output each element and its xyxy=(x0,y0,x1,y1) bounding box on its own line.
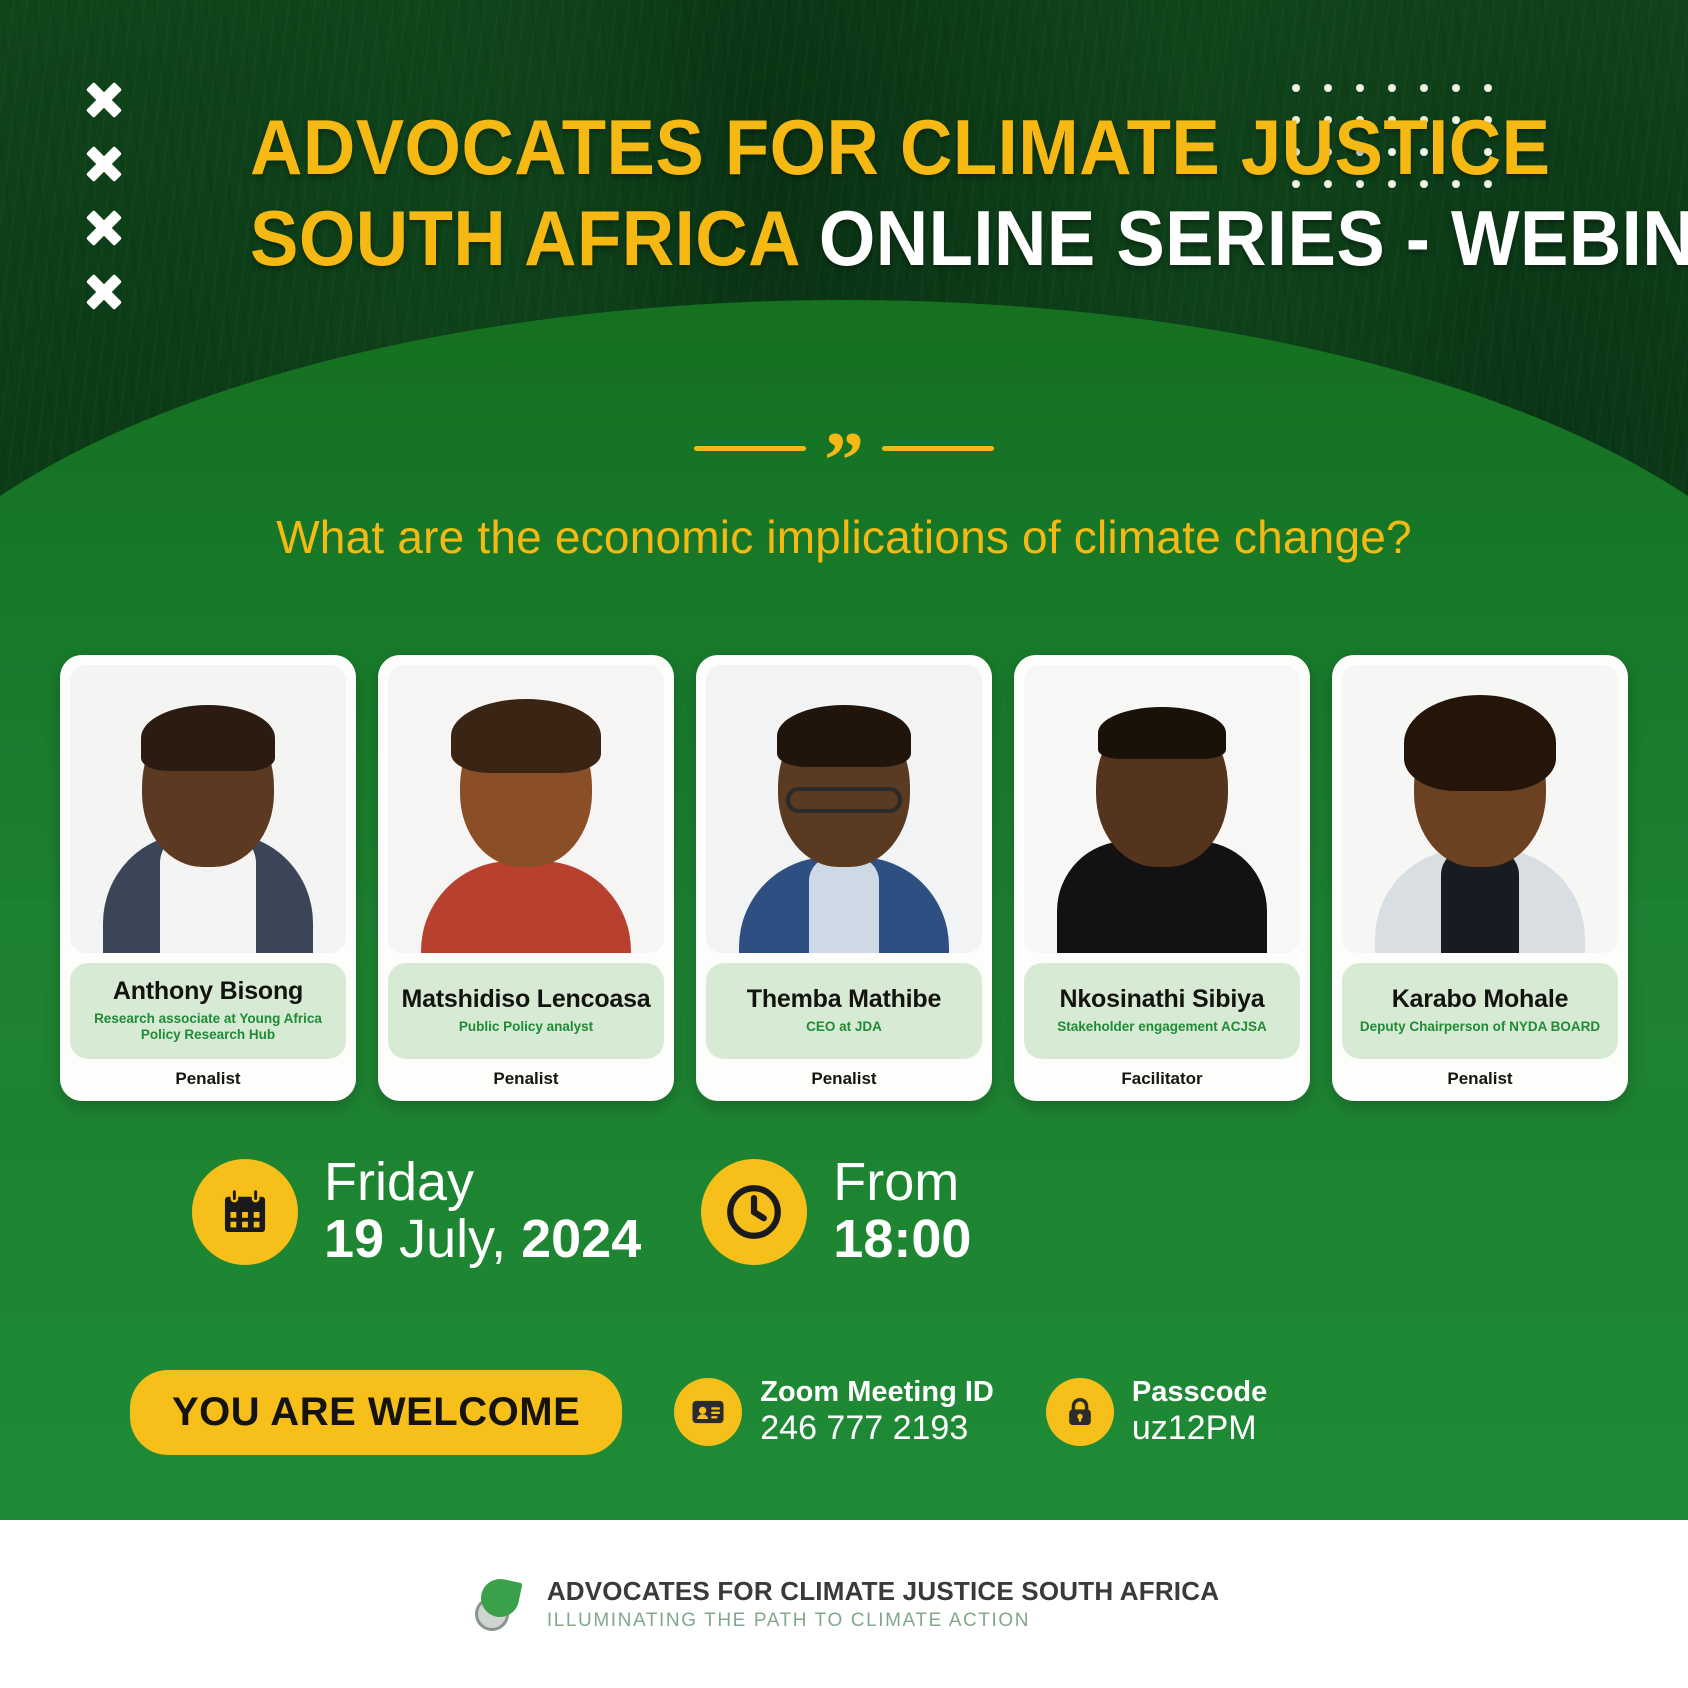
calendar-icon xyxy=(192,1159,298,1265)
speaker-list: Anthony Bisong Research associate at You… xyxy=(60,655,1628,1101)
zoom-meeting-info: Zoom Meeting ID 246 777 2193 xyxy=(674,1377,994,1448)
speaker-nameplate: Karabo Mohale Deputy Chairperson of NYDA… xyxy=(1342,963,1618,1059)
divider-line-right xyxy=(882,446,994,451)
speaker-card[interactable]: Matshidiso Lencoasa Public Policy analys… xyxy=(378,655,674,1101)
speaker-name: Nkosinathi Sibiya xyxy=(1032,986,1292,1012)
time-label: From xyxy=(833,1155,971,1210)
time-text: From 18:00 xyxy=(833,1155,971,1268)
footer-tagline: ILLUMINATING THE PATH TO CLIMATE ACTION xyxy=(547,1610,1219,1632)
you-are-welcome-badge: YOU ARE WELCOME xyxy=(130,1370,622,1455)
leaf-globe-logo-icon xyxy=(469,1573,531,1635)
x-mark-icon xyxy=(84,272,124,312)
date-text: Friday 19 July, 2024 xyxy=(324,1155,641,1268)
title-line-1: ADVOCATES FOR CLIMATE JUSTICE xyxy=(250,110,1532,185)
webinar-poster: ADVOCATES FOR CLIMATE JUSTICE SOUTH AFRI… xyxy=(0,0,1688,1688)
speaker-nameplate: Matshidiso Lencoasa Public Policy analys… xyxy=(388,963,664,1059)
page-title: ADVOCATES FOR CLIMATE JUSTICE SOUTH AFRI… xyxy=(250,110,1628,276)
date-time-section: Friday 19 July, 2024 From 18:00 xyxy=(0,1155,1688,1268)
speaker-card[interactable]: Karabo Mohale Deputy Chairperson of NYDA… xyxy=(1332,655,1628,1101)
date-day-label: Friday xyxy=(324,1155,641,1210)
speaker-tag: Penalist xyxy=(811,1069,876,1089)
lock-icon xyxy=(1046,1378,1114,1446)
title-line-2: SOUTH AFRICA ONLINE SERIES - WEBINAR xyxy=(250,201,1532,276)
time-value: 18:00 xyxy=(833,1210,971,1268)
speaker-tag: Facilitator xyxy=(1121,1069,1202,1089)
date-month: July, xyxy=(399,1209,506,1269)
speaker-photo xyxy=(706,665,982,953)
clock-icon xyxy=(701,1159,807,1265)
speaker-nameplate: Themba Mathibe CEO at JDA xyxy=(706,963,982,1059)
passcode-text: Passcode uz12PM xyxy=(1132,1377,1267,1448)
speaker-role: Public Policy analyst xyxy=(396,1019,656,1035)
date-day-number: 19 xyxy=(324,1209,384,1269)
footer-brand-bar: ADVOCATES FOR CLIMATE JUSTICE SOUTH AFRI… xyxy=(0,1520,1688,1688)
speaker-nameplate: Nkosinathi Sibiya Stakeholder engagement… xyxy=(1024,963,1300,1059)
passcode-value: uz12PM xyxy=(1132,1409,1267,1448)
x-mark-icon xyxy=(84,208,124,248)
speaker-name: Anthony Bisong xyxy=(78,978,338,1004)
x-mark-icon xyxy=(84,80,124,120)
speaker-photo xyxy=(1024,665,1300,953)
zoom-meeting-label: Zoom Meeting ID xyxy=(760,1377,994,1409)
zoom-meeting-value: 246 777 2193 xyxy=(760,1409,994,1448)
speaker-name: Karabo Mohale xyxy=(1350,986,1610,1012)
speaker-role: Deputy Chairperson of NYDA BOARD xyxy=(1350,1019,1610,1035)
footer-org-name: ADVOCATES FOR CLIMATE JUSTICE SOUTH AFRI… xyxy=(547,1576,1219,1607)
speaker-photo xyxy=(1342,665,1618,953)
title-line-2-white: ONLINE SERIES - WEBINAR xyxy=(819,194,1688,282)
speaker-photo xyxy=(388,665,664,953)
date-block: Friday 19 July, 2024 xyxy=(192,1155,641,1268)
speaker-photo xyxy=(70,665,346,953)
speaker-tag: Penalist xyxy=(493,1069,558,1089)
speaker-tag: Penalist xyxy=(175,1069,240,1089)
speaker-role: Research associate at Young Africa Polic… xyxy=(78,1011,338,1043)
x-marks-decoration xyxy=(84,80,124,312)
footer-text: ADVOCATES FOR CLIMATE JUSTICE SOUTH AFRI… xyxy=(547,1576,1219,1632)
title-line-2-gold: SOUTH AFRICA xyxy=(250,194,798,282)
speaker-card[interactable]: Anthony Bisong Research associate at You… xyxy=(60,655,356,1101)
x-mark-icon xyxy=(84,144,124,184)
quote-divider: ” xyxy=(0,446,1688,451)
speaker-card[interactable]: Nkosinathi Sibiya Stakeholder engagement… xyxy=(1014,655,1310,1101)
speaker-card[interactable]: Themba Mathibe CEO at JDA Penalist xyxy=(696,655,992,1101)
webinar-question: What are the economic implications of cl… xyxy=(0,510,1688,564)
zoom-meeting-text: Zoom Meeting ID 246 777 2193 xyxy=(760,1377,994,1448)
passcode-info: Passcode uz12PM xyxy=(1046,1377,1267,1448)
divider-line-left xyxy=(694,446,806,451)
id-card-icon xyxy=(674,1378,742,1446)
time-block: From 18:00 xyxy=(701,1155,971,1268)
date-year: 2024 xyxy=(521,1209,641,1269)
speaker-name: Matshidiso Lencoasa xyxy=(396,986,656,1012)
speaker-role: CEO at JDA xyxy=(714,1019,974,1035)
passcode-label: Passcode xyxy=(1132,1377,1267,1409)
speaker-role: Stakeholder engagement ACJSA xyxy=(1032,1019,1292,1035)
speaker-name: Themba Mathibe xyxy=(714,986,974,1012)
speaker-tag: Penalist xyxy=(1447,1069,1512,1089)
date-full: 19 July, 2024 xyxy=(324,1210,641,1268)
bottom-info-bar: YOU ARE WELCOME Zoom Meeting ID 246 777 … xyxy=(0,1370,1688,1455)
speaker-nameplate: Anthony Bisong Research associate at You… xyxy=(70,963,346,1059)
